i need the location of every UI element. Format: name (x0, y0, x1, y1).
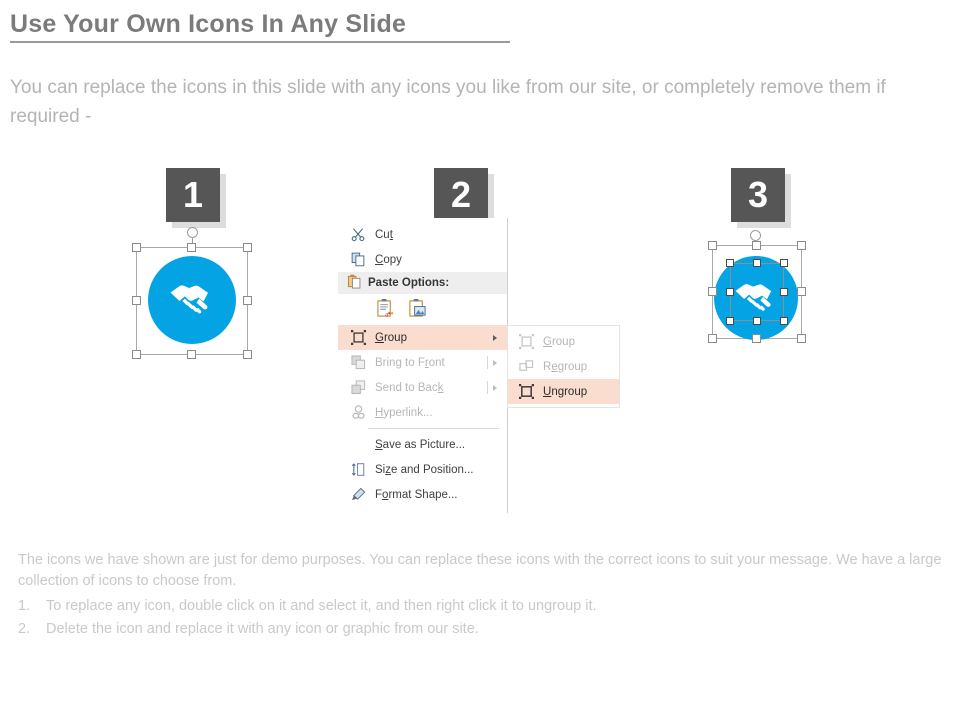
handshake-icon-1[interactable] (148, 256, 236, 344)
selection-handle[interactable] (752, 241, 761, 250)
menu-item-send-to-back[interactable]: Send to Back (338, 375, 507, 400)
menu-item-cut[interactable]: Cut (338, 222, 507, 247)
selection-handle[interactable] (797, 334, 806, 343)
list-item-text: Delete the icon and replace it with any … (46, 618, 479, 641)
menu-item-label: Save as Picture... (369, 439, 465, 451)
selection-handle[interactable] (132, 350, 141, 359)
selection-handle[interactable] (243, 243, 252, 252)
submenu-item-regroup[interactable]: Regroup (508, 354, 619, 379)
rotation-handle-3[interactable] (750, 230, 761, 241)
menu-item-hyperlink[interactable]: Hyperlink... (338, 400, 507, 425)
regroup-icon (515, 358, 537, 375)
selection-handle-inner[interactable] (780, 288, 788, 296)
menu-item-group[interactable]: Group (338, 325, 507, 350)
scissors-icon (347, 226, 369, 243)
size-position-icon (347, 461, 369, 478)
menu-item-label: Format Shape... (369, 489, 457, 501)
ungroup-icon (515, 383, 537, 400)
selection-handle[interactable] (752, 334, 761, 343)
rotation-handle-1[interactable] (187, 227, 198, 238)
selection-handle[interactable] (187, 243, 196, 252)
chevron-right-icon (493, 385, 497, 391)
submenu-item-ungroup[interactable]: Ungroup (508, 379, 619, 404)
selection-handle[interactable] (187, 350, 196, 359)
selection-handle-inner[interactable] (753, 259, 761, 267)
submenu-item-group[interactable]: Group (508, 329, 619, 354)
submenu-item-label: Group (537, 336, 575, 348)
menu-divider (368, 428, 499, 429)
selection-handle[interactable] (243, 350, 252, 359)
menu-divider (487, 381, 488, 394)
menu-item-paste-options[interactable]: Paste Options: (338, 272, 507, 294)
page-subtitle: You can replace the icons in this slide … (10, 73, 955, 131)
selection-handle-inner[interactable] (726, 288, 734, 296)
hyperlink-icon (347, 404, 369, 421)
menu-item-label: Size and Position... (369, 464, 473, 476)
menu-item-size-and-position[interactable]: Size and Position... (338, 457, 507, 482)
menu-item-label: Hyperlink... (369, 407, 433, 419)
menu-item-save-as-picture[interactable]: Save as Picture... (338, 432, 507, 457)
selection-handle-inner[interactable] (780, 317, 788, 325)
menu-item-label: Copy (369, 254, 402, 266)
step-badge-2: 2 (434, 168, 488, 222)
selection-handle[interactable] (132, 296, 141, 305)
selection-handle[interactable] (708, 287, 717, 296)
selection-handle[interactable] (708, 241, 717, 250)
title-underline-rule (10, 41, 510, 43)
submenu-item-label: Ungroup (537, 386, 587, 398)
footer-note: The icons we have shown are just for dem… (18, 550, 943, 592)
list-item: 2. Delete the icon and replace it with a… (18, 618, 943, 641)
paste-picture-icon[interactable] (408, 298, 427, 321)
menu-item-format-shape[interactable]: Format Shape... (338, 482, 507, 507)
handshake-glyph (167, 280, 217, 320)
selection-frame-3-inner (730, 263, 784, 321)
submenu-item-label: Regroup (537, 361, 587, 373)
selection-handle[interactable] (243, 296, 252, 305)
selection-handle[interactable] (132, 243, 141, 252)
menu-item-label: Send to Back (369, 382, 443, 394)
step-badge-1: 1 (166, 168, 220, 222)
step-badge-3: 3 (731, 168, 785, 222)
paste-keep-text-icon[interactable]: a (376, 298, 395, 321)
paste-options-icon-row[interactable]: a (338, 294, 507, 325)
menu-item-label: Paste Options: (362, 277, 449, 289)
chevron-right-icon (493, 335, 497, 341)
menu-item-label: Cut (369, 229, 393, 241)
selection-handle-inner[interactable] (726, 259, 734, 267)
context-menu[interactable]: Cut Copy Paste Options: a Group Bring to… (338, 218, 508, 513)
selection-handle-inner[interactable] (726, 317, 734, 325)
copy-icon (347, 251, 369, 268)
chevron-right-icon (493, 360, 497, 366)
list-item: 1. To replace any icon, double click on … (18, 595, 943, 618)
group-icon (515, 333, 537, 350)
selection-handle[interactable] (708, 334, 717, 343)
group-icon (347, 329, 369, 346)
list-item-number: 2. (18, 618, 46, 641)
footer-list: 1. To replace any icon, double click on … (18, 595, 943, 641)
selection-handle[interactable] (797, 241, 806, 250)
menu-item-label: Bring to Front (369, 357, 445, 369)
menu-item-bring-to-front[interactable]: Bring to Front (338, 350, 507, 375)
menu-item-label: Group (369, 332, 407, 344)
clipboard-icon (347, 274, 362, 292)
page-title: Use Your Own Icons In Any Slide (10, 10, 406, 39)
selection-handle-inner[interactable] (753, 317, 761, 325)
group-submenu[interactable]: Group Regroup Ungroup (507, 325, 620, 408)
selection-handle[interactable] (797, 287, 806, 296)
menu-item-copy[interactable]: Copy (338, 247, 507, 272)
selection-handle-inner[interactable] (780, 259, 788, 267)
format-shape-icon (347, 486, 369, 503)
menu-divider (487, 356, 488, 369)
list-item-text: To replace any icon, double click on it … (46, 595, 597, 618)
send-to-back-icon (347, 379, 369, 396)
no-icon-placeholder (347, 436, 369, 453)
bring-to-front-icon (347, 354, 369, 371)
list-item-number: 1. (18, 595, 46, 618)
